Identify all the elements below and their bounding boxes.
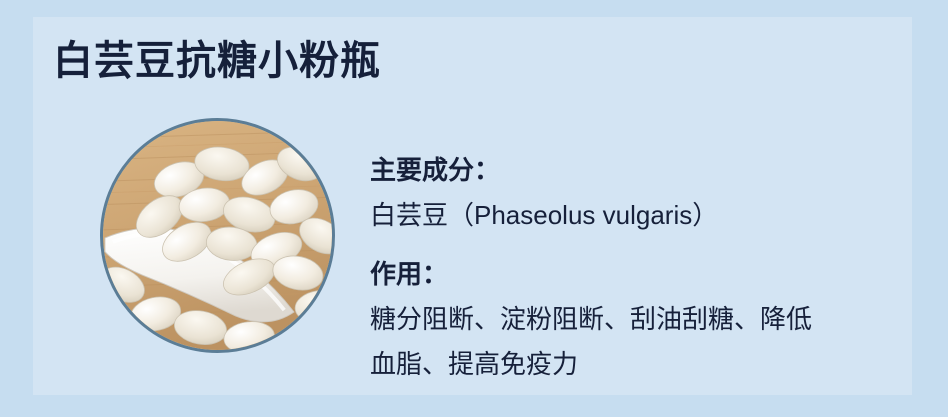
effects-label: 作用：: [370, 252, 900, 297]
effects-value-line-2: 血脂、提高免疫力: [370, 342, 900, 387]
page-title: 白芸豆抗糖小粉瓶: [53, 41, 381, 81]
ingredients-label: 主要成分：: [370, 148, 900, 193]
effects-block: 作用： 糖分阻断、淀粉阻断、刮油刮糖、降低 血脂、提高免疫力: [370, 252, 900, 387]
product-info-card: 白芸豆抗糖小粉瓶: [0, 0, 948, 417]
effects-value-line-1: 糖分阻断、淀粉阻断、刮油刮糖、降低: [370, 297, 900, 342]
product-details: 主要成分： 白芸豆（Phaseolus vulgaris） 作用： 糖分阻断、淀…: [370, 148, 900, 387]
white-kidney-beans-photo: [103, 121, 332, 350]
product-image: [100, 118, 335, 353]
ingredients-value: 白芸豆（Phaseolus vulgaris）: [370, 193, 900, 238]
ingredients-block: 主要成分： 白芸豆（Phaseolus vulgaris）: [370, 148, 900, 238]
